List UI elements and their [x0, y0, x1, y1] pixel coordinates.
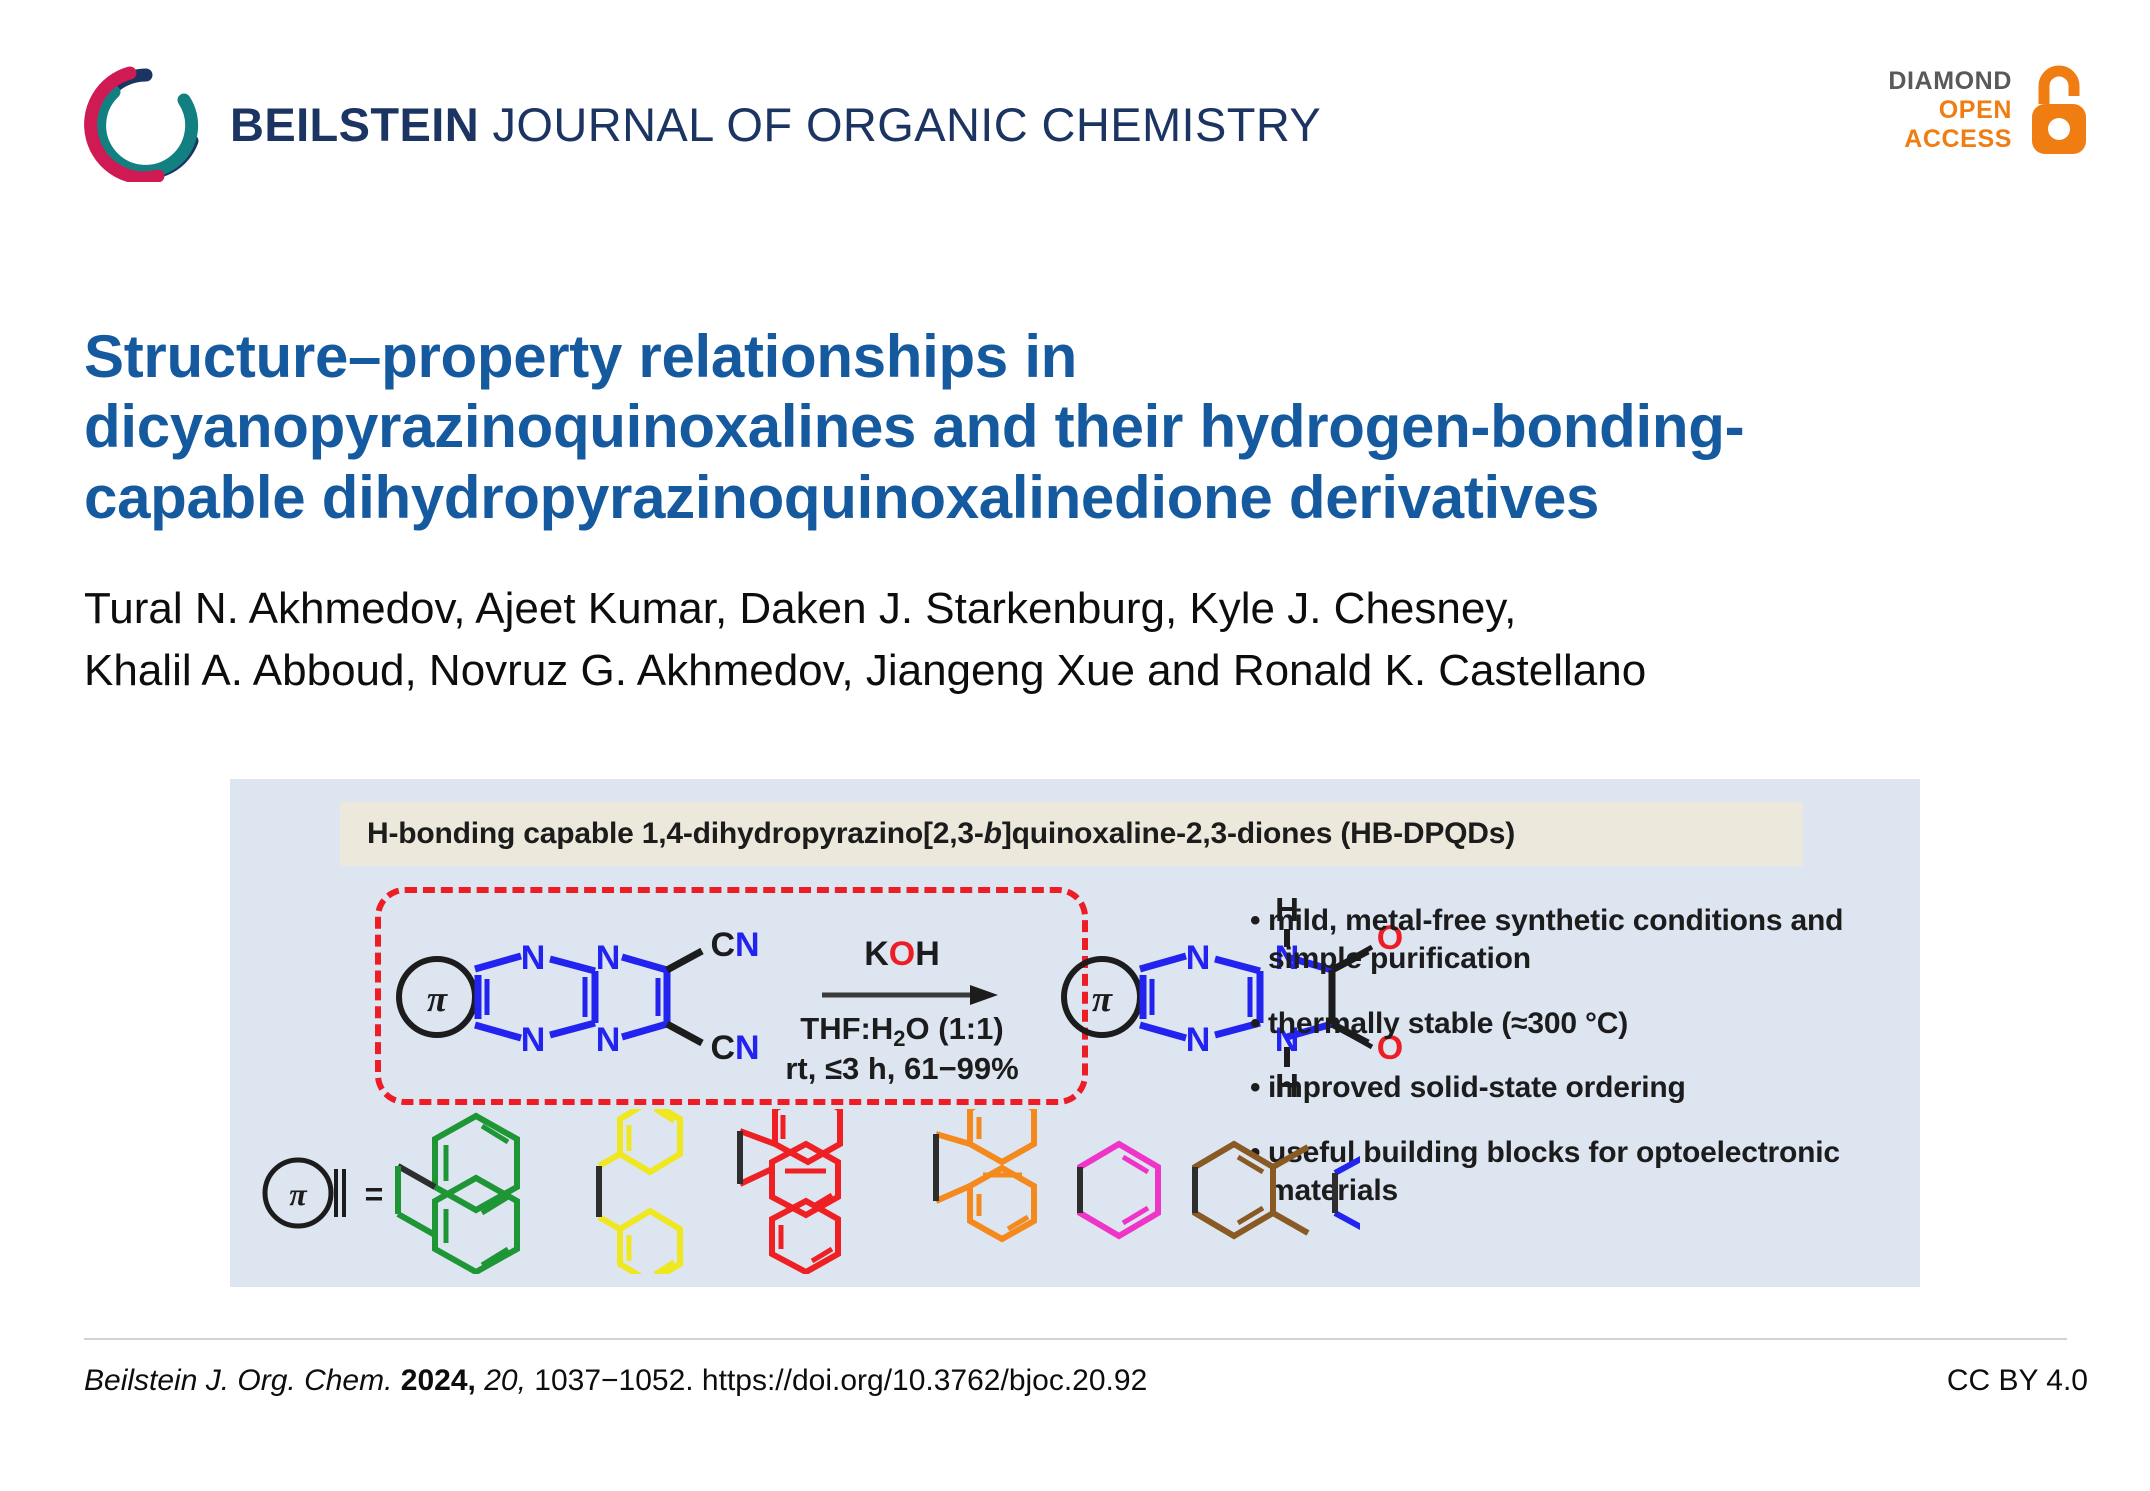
atom-label-N: N — [596, 939, 621, 977]
page-title: Structure–property relationships in dicy… — [84, 322, 1984, 533]
svg-text:π: π — [1092, 979, 1113, 1020]
fragment-dihydrophenanthrene — [398, 1116, 517, 1272]
bullet-dot-icon: • — [1250, 902, 1268, 940]
wordmark-beilstein: BEILSTEIN — [230, 98, 479, 151]
bullet-dot-icon: • — [1250, 1005, 1268, 1043]
reaction-arrow-group: KOH THF:H2O (1:1) rt, ≤3 h, 61−99% — [785, 935, 1018, 1086]
citation-pages-doi[interactable]: 1037−1052. https://doi.org/10.3762/bjoc.… — [534, 1364, 1147, 1397]
authors-line-1: Tural N. Akhmedov, Ajeet Kumar, Daken J.… — [84, 578, 2014, 640]
atom-label-N: N — [1186, 1021, 1211, 1059]
fragment-dimethylbenzene — [1195, 1144, 1308, 1236]
svg-text:π: π — [427, 979, 448, 1020]
beilstein-swirl-logo — [84, 66, 204, 182]
wordmark-subtitle: JOURNAL OF ORGANIC CHEMISTRY — [479, 98, 1321, 151]
footer-divider — [84, 1338, 2067, 1340]
authors-line-2: Khalil A. Abboud, Novruz G. Akhmedov, Ji… — [84, 640, 2014, 702]
license-label: CC BY 4.0 — [1947, 1364, 2088, 1398]
citation-journal: Beilstein J. Org. Chem. — [84, 1364, 392, 1397]
title-line-2: dicyanopyrazinoquinoxalines and their hy… — [84, 392, 1984, 462]
open-access-text: DIAMOND OPEN ACCESS — [1888, 67, 2012, 154]
diamond-open-access-badge[interactable]: DIAMOND OPEN ACCESS — [1888, 62, 2092, 158]
bullet-text: mild, metal-free synthetic conditions an… — [1268, 902, 1910, 979]
atom-label-N: N — [596, 1021, 621, 1059]
bullet-text: thermally stable (≈300 °C) — [1268, 1005, 1628, 1043]
fragment-phenanthroline: N N — [1335, 1109, 1360, 1274]
equals-sign: = — [365, 1176, 384, 1212]
atom-label-N: N — [521, 939, 546, 977]
atom-label-N: N — [1186, 939, 1211, 977]
bullet-text: useful building blocks for optoelectroni… — [1268, 1134, 1910, 1211]
oa-line-diamond: DIAMOND — [1888, 67, 2012, 96]
citation-line: Beilstein J. Org. Chem. 2024, 20, 1037−1… — [84, 1364, 1147, 1398]
list-item: • mild, metal-free synthetic conditions … — [1250, 902, 1910, 979]
bullet-dot-icon: • — [1250, 1069, 1268, 1107]
title-line-1: Structure–property relationships in — [84, 322, 1984, 392]
atom-label-CN: CN — [710, 1029, 759, 1067]
bullet-text: improved solid-state ordering — [1268, 1069, 1686, 1107]
reaction-scheme-graphic: π N N N N — [230, 779, 1130, 1119]
condition-time-yield: rt, ≤3 h, 61−99% — [785, 1051, 1018, 1086]
open-padlock-icon — [2026, 62, 2092, 158]
pi-fragment-legend: π = — [250, 1109, 1360, 1274]
list-item: • improved solid-state ordering — [1250, 1069, 1910, 1107]
journal-wordmark: BEILSTEIN JOURNAL OF ORGANIC CHEMISTRY — [230, 101, 1321, 148]
atom-label-N: N — [521, 1021, 546, 1059]
svg-text:π: π — [289, 1176, 308, 1212]
journal-brand[interactable]: BEILSTEIN JOURNAL OF ORGANIC CHEMISTRY — [84, 66, 1321, 182]
citation-volume: 20, — [484, 1364, 526, 1397]
citation-year: 2024, — [401, 1364, 476, 1397]
fragment-fluoranthene — [740, 1109, 840, 1272]
author-list: Tural N. Akhmedov, Ajeet Kumar, Daken J.… — [84, 578, 2014, 703]
reagent-label: KOH — [864, 935, 940, 973]
condition-solvent: THF:H2O (1:1) — [800, 1011, 1003, 1051]
fragment-biphenyl — [599, 1109, 680, 1274]
atom-label-CN: CN — [710, 926, 759, 964]
fragment-acenaphthylene — [936, 1109, 1034, 1239]
fragment-benzene — [1080, 1144, 1158, 1236]
reactant-structure: π N N N N — [399, 926, 760, 1067]
oa-line-open: OPEN — [1888, 96, 2012, 125]
title-line-3: capable dihydropyrazinoquinoxalinedione … — [84, 463, 1984, 533]
graphical-abstract-panel: H-bonding capable 1,4-dihydropyrazino[2,… — [230, 779, 1920, 1287]
list-item: • thermally stable (≈300 °C) — [1250, 1005, 1910, 1043]
oa-line-access: ACCESS — [1888, 125, 2012, 154]
masthead: BEILSTEIN JOURNAL OF ORGANIC CHEMISTRY D… — [0, 0, 2150, 180]
pi-legend-symbol: π = — [265, 1160, 383, 1226]
